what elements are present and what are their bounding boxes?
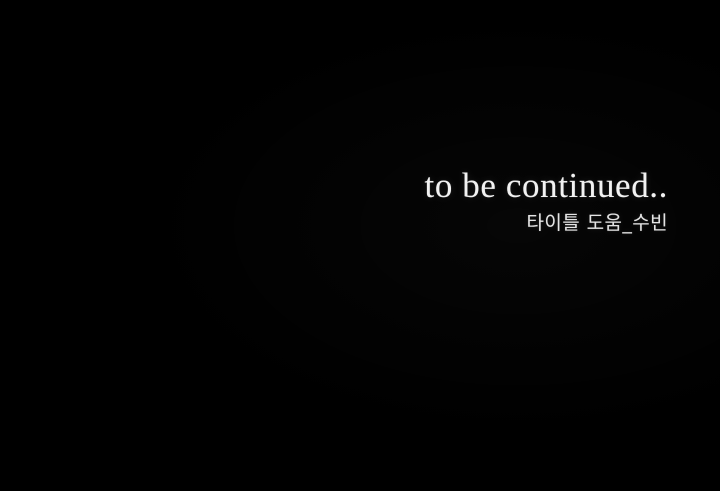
end-card: to be continued.. 타이틀 도움_수빈 — [0, 168, 668, 233]
title-credit-text: 타이틀 도움_수빈 — [0, 214, 668, 233]
video-frame: to be continued.. 타이틀 도움_수빈 — [0, 0, 720, 491]
to-be-continued-text: to be continued.. — [0, 168, 668, 203]
